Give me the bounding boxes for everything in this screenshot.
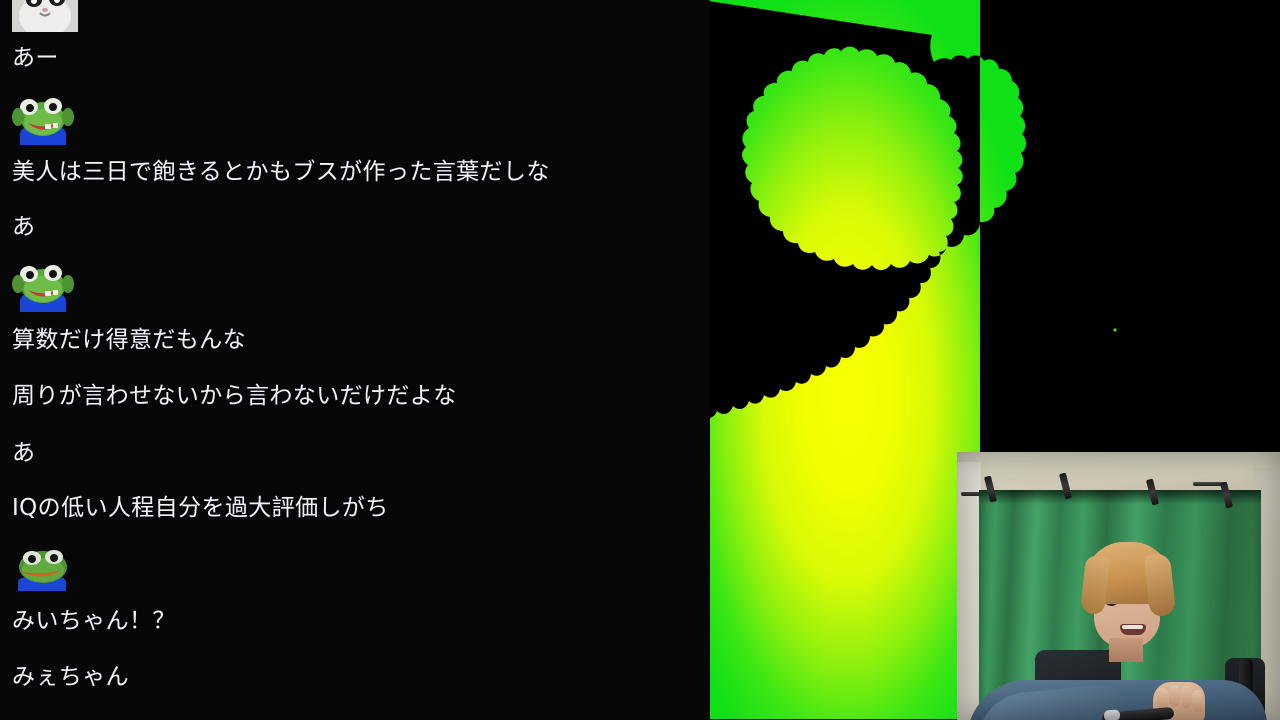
finger-4 [1192, 690, 1203, 712]
chat-message-text: あ [12, 442, 35, 465]
person-neck [1109, 638, 1143, 662]
chat-text: あ [12, 214, 35, 240]
chat-message-text: 算数だけ得意だもんな [12, 329, 246, 352]
chat-emote [12, 95, 74, 150]
pepe-happy-emote [12, 95, 74, 150]
curtain-top-shadow [979, 490, 1261, 504]
chat-text: あー [12, 45, 59, 71]
cat-emote [12, 0, 78, 37]
pepe-happy-emote [12, 262, 74, 317]
stream-overlay-stage: あー美人は三日で飽きるとかもブスが作った言葉だしなあ算数だけ得意だもんな周りが言… [0, 0, 1280, 720]
chat-emote [12, 0, 78, 37]
chat-text: みいちゃん！？ [12, 608, 176, 634]
chat-emote [12, 547, 74, 596]
chat-text: みぇちゃん [12, 664, 129, 690]
chat-text: 美人は三日で飽きるとかもブスが作った言葉だしな [12, 159, 550, 185]
person-head [1085, 542, 1171, 650]
chat-text: 算数だけ得意だもんな [12, 327, 246, 353]
chat-message-text: みぇちゃん [12, 666, 129, 689]
chat-text: 周りが言わせないから言わないだけだよな [12, 383, 457, 409]
cam-wall-left [957, 462, 981, 720]
chat-text: IQの低い人程自分を過大評価しがち [12, 495, 389, 521]
webcam-overlay[interactable] [957, 452, 1280, 720]
chat-message-text: 周りが言わせないから言わないだけだよな [12, 385, 457, 408]
chat-message-text: あ [12, 216, 35, 239]
chat-message-text: IQの低い人程自分を過大評価しがち [12, 497, 389, 520]
live-chat-panel[interactable]: あー美人は三日で飽きるとかもブスが作った言葉だしなあ算数だけ得意だもんな周りが言… [0, 0, 710, 720]
chat-message-text: あー [12, 47, 59, 70]
chat-text: あ [12, 440, 35, 466]
finger-3 [1181, 686, 1192, 708]
microphone-tip [1104, 709, 1121, 720]
chat-emote [12, 262, 74, 317]
person-teeth [1122, 625, 1143, 629]
pepe-sad-emote [12, 547, 74, 596]
finger-2 [1169, 685, 1180, 707]
chat-message-text: 美人は三日で飽きるとかもブスが作った言葉だしな [12, 161, 550, 184]
chat-message-text: みいちゃん！？ [12, 610, 176, 633]
offshore-island-dot [1113, 328, 1116, 331]
